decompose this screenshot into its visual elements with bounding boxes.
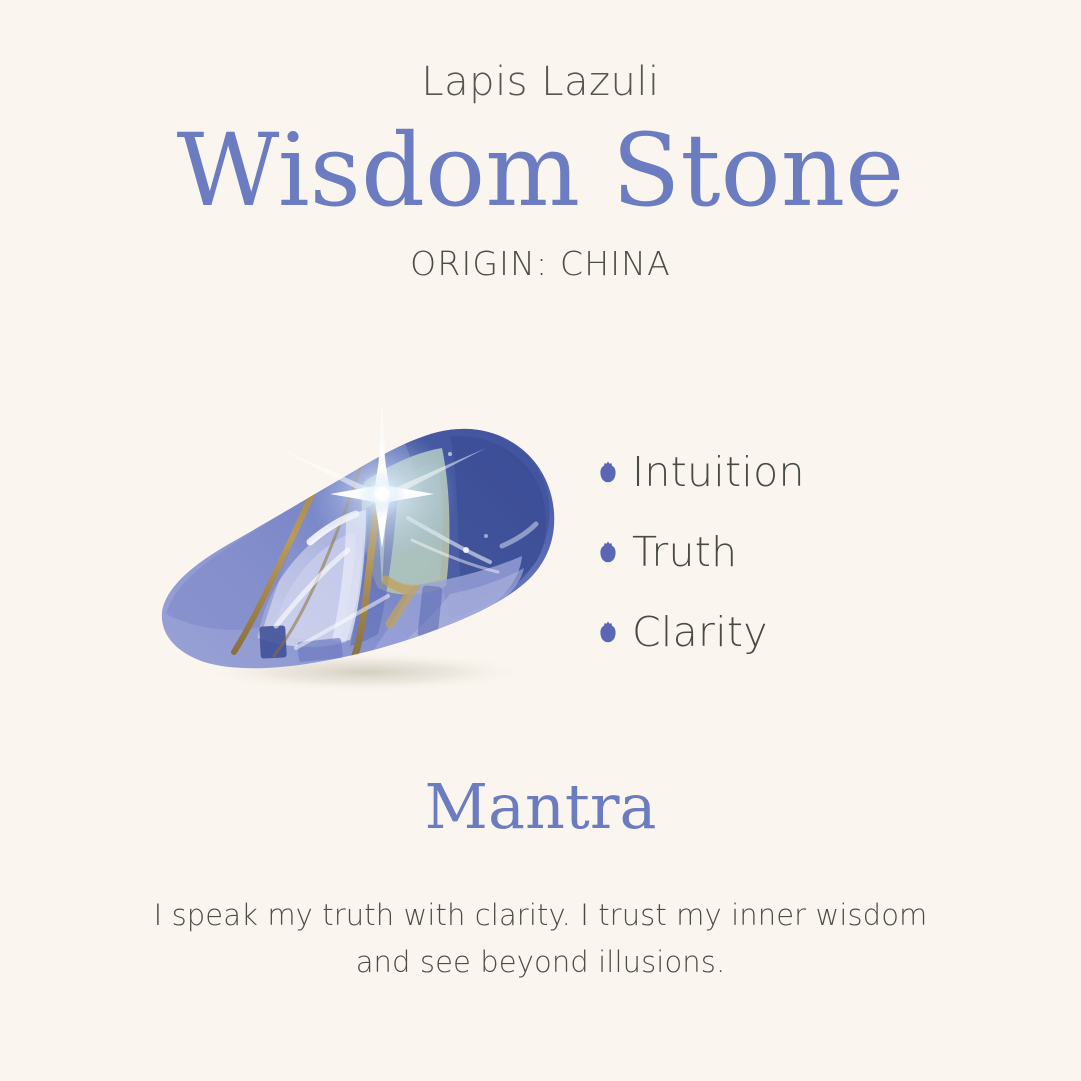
- mantra-text: I speak my truth with clarity. I trust m…: [0, 844, 1081, 986]
- list-item: Intuition: [600, 432, 1020, 512]
- list-item: Clarity: [600, 592, 1020, 672]
- gem-bullet-icon: [600, 541, 616, 563]
- attribute-label: Clarity: [632, 612, 768, 653]
- attribute-label: Intuition: [632, 452, 805, 493]
- attributes-list: Intuition Truth Clarity: [600, 432, 1020, 672]
- lapis-lazuli-stone-icon: [150, 390, 570, 720]
- mantra-line: and see beyond illusions.: [0, 939, 1081, 986]
- mantra-section: Mantra I speak my truth with clarity. I …: [0, 770, 1081, 986]
- gem-bullet-icon: [600, 461, 616, 483]
- stone-illustration: [150, 390, 570, 720]
- mantra-heading: Mantra: [0, 770, 1081, 844]
- mantra-line: I speak my truth with clarity. I trust m…: [0, 892, 1081, 939]
- stone-common-name: Lapis Lazuli: [0, 0, 1081, 102]
- card-header: Lapis Lazuli Wisdom Stone ORIGIN: CHINA: [0, 0, 1081, 280]
- stone-card: Lapis Lazuli Wisdom Stone ORIGIN: CHINA: [0, 0, 1081, 1081]
- page-title: Wisdom Stone: [0, 102, 1081, 223]
- list-item: Truth: [600, 512, 1020, 592]
- stone-origin: ORIGIN: CHINA: [0, 223, 1081, 280]
- attribute-label: Truth: [632, 532, 737, 573]
- gem-bullet-icon: [600, 621, 616, 643]
- stone-and-attributes: Intuition Truth Clarity: [0, 390, 1081, 720]
